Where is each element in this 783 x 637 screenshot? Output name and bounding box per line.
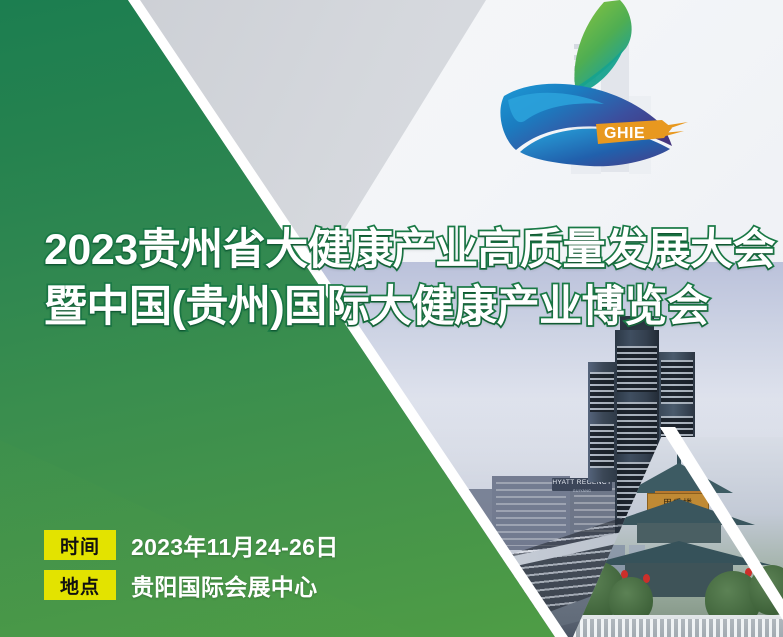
event-info: 时间 2023年11月24-26日 地点 贵阳国际会展中心 — [44, 528, 339, 608]
tower-window-band — [590, 424, 614, 468]
pavilion-railing — [573, 615, 783, 637]
tower-window-band — [617, 402, 657, 454]
hotel-sign-subtext: GUIYANG — [552, 489, 612, 493]
title-line-2: 暨中国(贵州)国际大健康产业博览会 — [44, 279, 764, 336]
tower-window-band — [661, 360, 693, 404]
poster-title: 2023贵州省大健康产业高质量发展大会 暨中国(贵州)国际大健康产业博览会 — [44, 222, 764, 336]
info-row-time: 时间 2023年11月24-26日 — [44, 528, 339, 562]
tower-window-band — [617, 346, 657, 392]
pavilion-tier-middle — [637, 523, 721, 543]
event-venue: 贵阳国际会展中心 — [131, 568, 317, 602]
info-row-location: 地点 贵阳国际会展中心 — [44, 568, 339, 602]
title-line-1: 2023贵州省大健康产业高质量发展大会 — [44, 222, 764, 279]
event-poster: HYATT REGENCY GUIYANG 甲秀楼 — [0, 0, 783, 637]
ghie-logo: GHIE — [486, 0, 696, 175]
logo-wordmark: GHIE — [604, 125, 645, 142]
location-badge: 地点 — [44, 570, 116, 600]
time-badge: 时间 — [44, 530, 116, 560]
tower-window-band — [590, 372, 614, 412]
event-date: 2023年11月24-26日 — [131, 528, 339, 562]
